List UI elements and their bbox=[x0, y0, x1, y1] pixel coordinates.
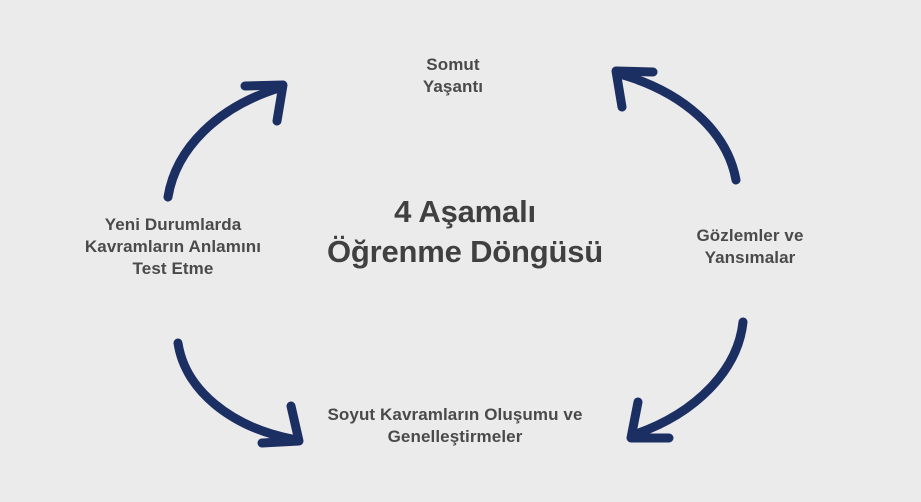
arrow-top-to-left-icon bbox=[168, 85, 283, 197]
page-title: 4 Aşamalı Öğrenme Döngüsü bbox=[300, 192, 630, 273]
stage-label-bottom: Soyut Kavramların Oluşumu ve Genelleştir… bbox=[280, 404, 630, 448]
learning-cycle-diagram: 4 Aşamalı Öğrenme Döngüsü Somut Yaşantı … bbox=[0, 0, 921, 502]
stage-label-top: Somut Yaşantı bbox=[363, 54, 543, 98]
stage-label-left: Yeni Durumlarda Kavramların Anlamını Tes… bbox=[48, 214, 298, 279]
stage-label-right: Gözlemler ve Yansımalar bbox=[655, 225, 845, 269]
arrow-bottom-to-right-icon bbox=[631, 322, 743, 438]
arrow-right-to-top-icon bbox=[616, 71, 736, 180]
